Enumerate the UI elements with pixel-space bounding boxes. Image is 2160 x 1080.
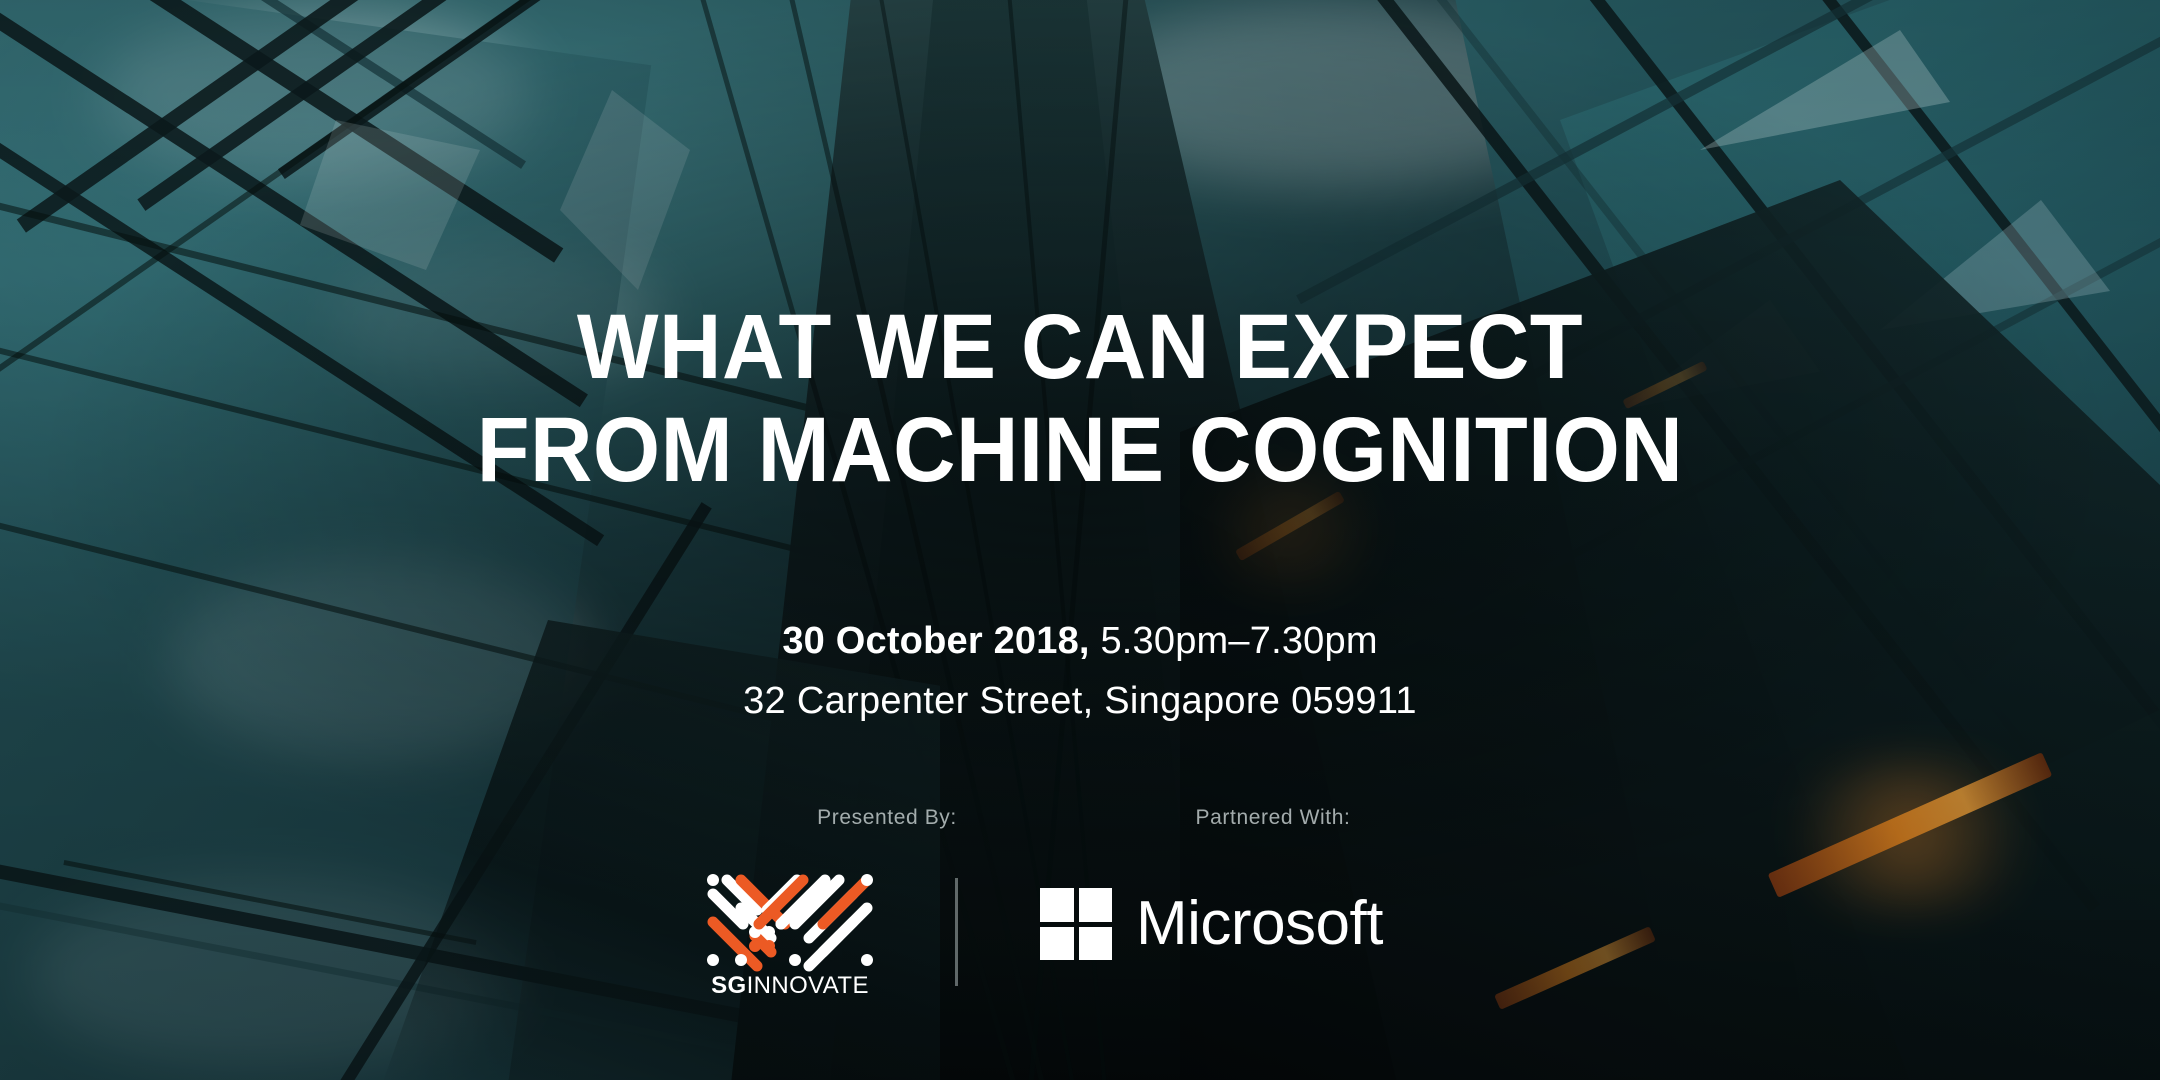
sginnovate-wordmark-light: INNOVATE <box>747 972 869 999</box>
presented-by-column: Presented By: <box>737 806 1037 830</box>
sginnovate-chevron-icon <box>700 866 880 974</box>
sginnovate-wordmark: SGINNOVATE <box>700 972 880 1000</box>
presented-by-label: Presented By: <box>817 806 957 830</box>
event-address: 32 Carpenter Street, Singapore 059911 <box>0 675 2160 729</box>
event-details: 30 October 2018, 5.30pm–7.30pm 32 Carpen… <box>0 615 2160 729</box>
microsoft-square-bottom-left <box>1040 927 1074 961</box>
partnered-with-label: Partnered With: <box>1196 806 1351 830</box>
credits-row: Presented By: Partnered With: <box>0 806 2160 830</box>
banner-content: WHAT WE CAN EXPECT FROM MACHINE COGNITIO… <box>0 0 2160 1080</box>
title-line-1: WHAT WE CAN EXPECT <box>577 296 1583 398</box>
logo-divider <box>955 878 958 986</box>
sginnovate-wordmark-bold: SG <box>711 972 746 999</box>
event-date: 30 October 2018, <box>782 620 1089 662</box>
microsoft-wordmark: Microsoft <box>1136 893 1383 955</box>
page-title: WHAT WE CAN EXPECT FROM MACHINE COGNITIO… <box>65 296 2095 502</box>
microsoft-squares-icon <box>1040 888 1112 960</box>
microsoft-logo: Microsoft <box>1040 888 1383 960</box>
event-time: 5.30pm–7.30pm <box>1100 620 1377 662</box>
partnered-with-column: Partnered With: <box>1123 806 1423 830</box>
sginnovate-logo: SGINNOVATE <box>700 866 880 1011</box>
microsoft-square-top-right <box>1079 888 1113 922</box>
microsoft-square-top-left <box>1040 888 1074 922</box>
event-banner: WHAT WE CAN EXPECT FROM MACHINE COGNITIO… <box>0 0 2160 1080</box>
title-line-2: FROM MACHINE COGNITION <box>65 399 2095 502</box>
microsoft-square-bottom-right <box>1079 927 1113 961</box>
